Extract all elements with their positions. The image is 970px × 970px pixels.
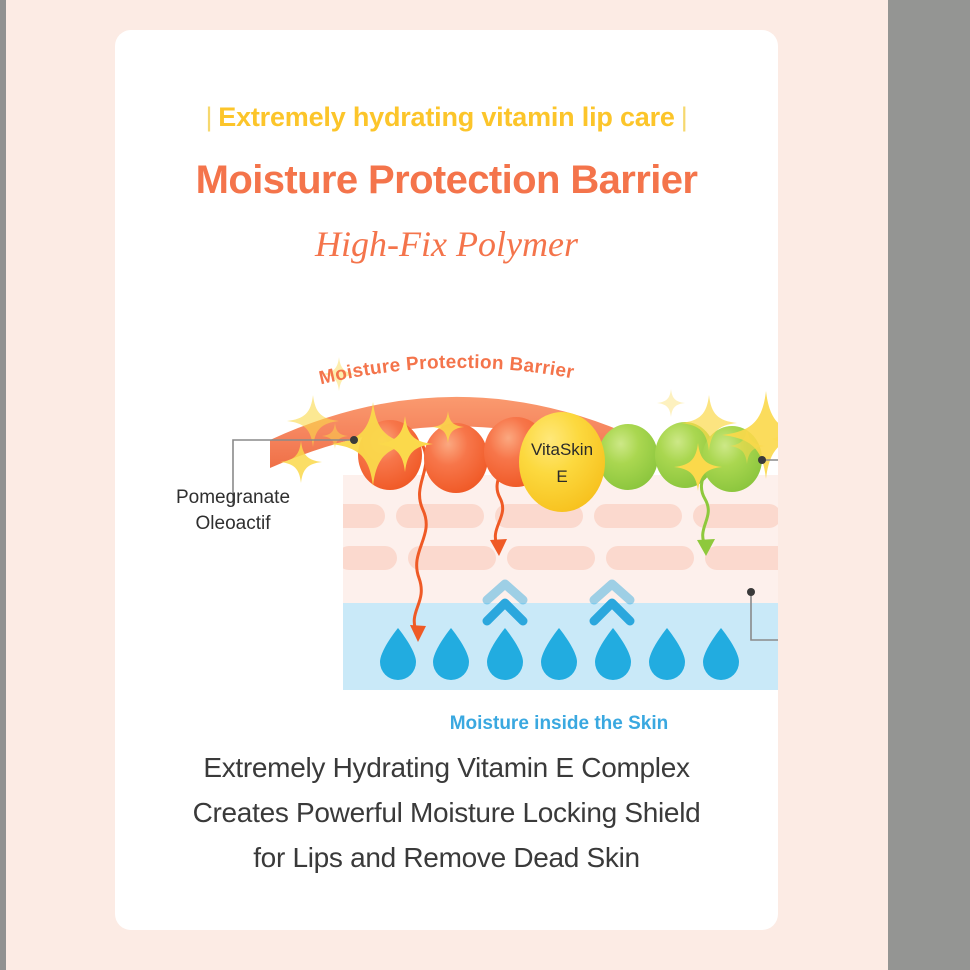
vitaskin-e-capsule — [519, 412, 605, 512]
vitaskin-label-line1: VitaSkin — [531, 440, 593, 459]
footer-copy-line-3: for Lips and Remove Dead Skin — [115, 835, 778, 880]
label-pomegranate-line2: Oleoactif — [196, 513, 272, 534]
leader-dot-pomegranate — [350, 436, 358, 444]
product-info-card: |Extremely hydrating vitamin lip care| M… — [115, 30, 778, 930]
skin-barrier-diagram: VitaSkin E — [115, 285, 778, 735]
leader-dot-olive-oil — [758, 456, 766, 464]
page-root: |Extremely hydrating vitamin lip care| M… — [0, 0, 970, 970]
olive-sphere-1 — [598, 424, 658, 490]
barrier-label-text: Moisture Protection Barrier — [317, 352, 576, 389]
eyebrow-bar-right: | — [675, 102, 694, 132]
pomegranate-sphere-2 — [424, 423, 488, 493]
eyebrow-heading: |Extremely hydrating vitamin lip care| — [115, 102, 778, 133]
eyebrow-bar-left: | — [199, 102, 218, 132]
footer-copy-line-2: Creates Powerful Moisture Locking Shield — [115, 790, 778, 835]
footer-copy: Extremely Hydrating Vitamin E Complex Cr… — [115, 745, 778, 880]
eyebrow-text: Extremely hydrating vitamin lip care — [218, 102, 674, 132]
vitaskin-label-line2: E — [556, 467, 567, 486]
right-side-panel — [888, 0, 970, 970]
page-title: Moisture Protection Barrier — [115, 158, 778, 203]
footer-copy-line-1: Extremely Hydrating Vitamin E Complex — [115, 745, 778, 790]
page-subtitle: High-Fix Polymer — [115, 223, 778, 265]
diagram-caption: Moisture inside the Skin — [450, 713, 669, 734]
label-pomegranate-line1: Pomegranate — [176, 487, 290, 508]
barrier-label: Moisture Protection Barrier — [317, 352, 576, 389]
leader-dot-lip-skin — [747, 588, 755, 596]
